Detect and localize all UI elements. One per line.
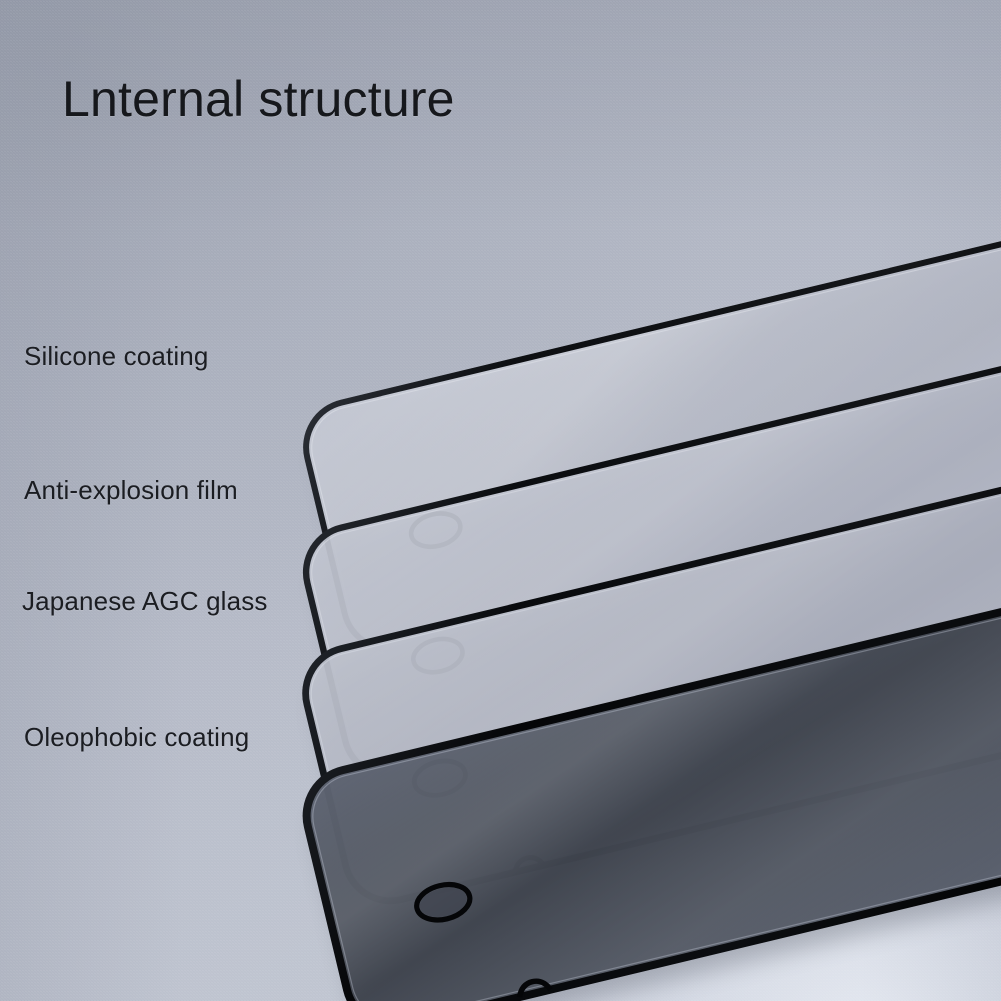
oleophobic-panel-geometry <box>297 585 1001 1001</box>
callout-label-oleophobic-coating: Oleophobic coating <box>24 724 249 750</box>
callout-label-japanese-agc-glass: Japanese AGC glass <box>22 588 268 614</box>
callout-label-anti-explosion-film: Anti-explosion film <box>24 477 238 503</box>
oleophobic-panel-sheen <box>297 586 1001 1001</box>
page-title: Lnternal structure <box>62 72 455 126</box>
product-layer-diagram: Lnternal structure Silicone coating Anti… <box>0 0 1001 1001</box>
callout-label-silicone-coating: Silicone coating <box>24 343 209 369</box>
